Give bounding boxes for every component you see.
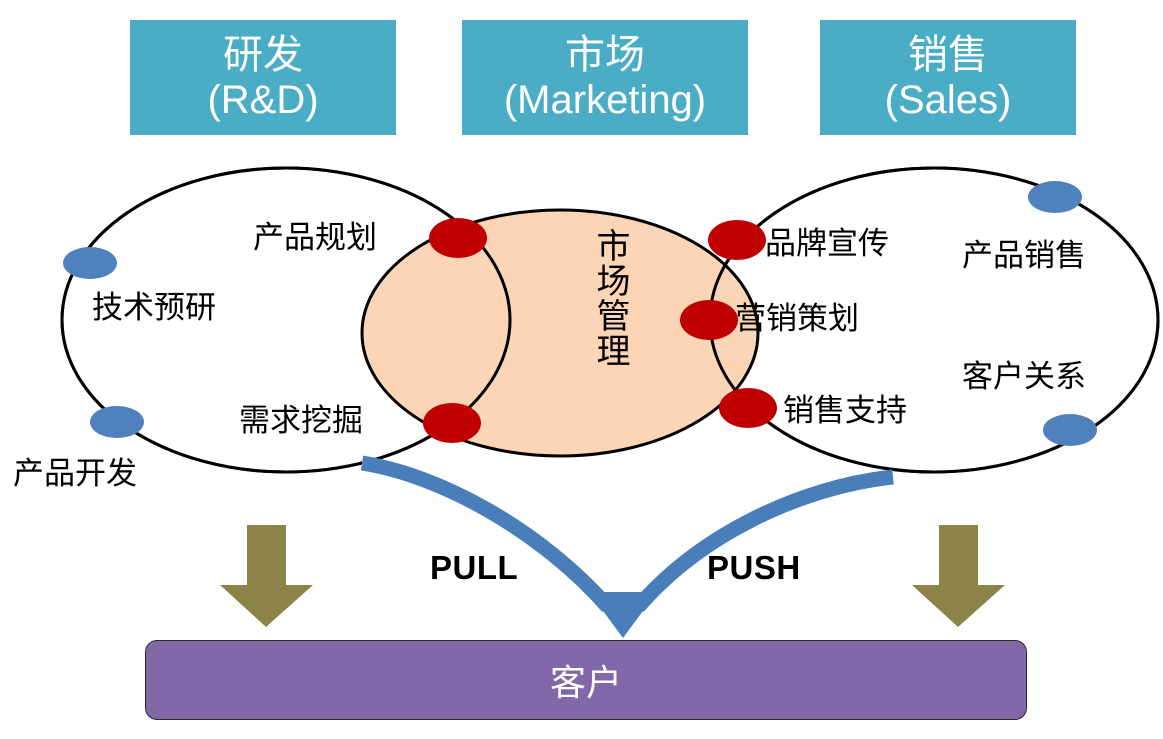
header-sales-en: (Sales) — [885, 78, 1012, 123]
header-box-sales[interactable]: 销售 (Sales) — [820, 20, 1076, 135]
edge-dot-sales-top-right — [1028, 181, 1082, 213]
push-arrow — [638, 477, 893, 607]
customer-box[interactable]: 客户 — [145, 640, 1027, 720]
label-product-sales: 产品销售 — [962, 240, 1086, 271]
label-marketing-planning: 营销策划 — [735, 303, 859, 334]
label-product-planning: 产品规划 — [253, 222, 377, 253]
diagram-canvas: 研发 (R&D) 市场 (Marketing) 销售 (Sales) 产品规划 … — [0, 0, 1163, 739]
flow-label-push: PUSH — [707, 549, 801, 587]
down-arrow-left — [220, 525, 313, 627]
flow-label-pull: PULL — [430, 549, 518, 587]
edge-dot-rd-bottom-left — [90, 406, 144, 438]
edge-dot-rd-top-left — [63, 247, 117, 279]
header-marketing-en: (Marketing) — [504, 78, 706, 123]
overlap-dot-sales-support — [719, 388, 777, 428]
label-product-development: 产品开发 — [13, 458, 137, 489]
label-tech-preresearch: 技术预研 — [92, 292, 216, 323]
label-demand-mining: 需求挖掘 — [239, 405, 363, 436]
header-rd-en: (R&D) — [207, 78, 318, 123]
label-customer-relations: 客户关系 — [962, 361, 1086, 392]
overlap-dot-product-planning — [429, 218, 487, 258]
header-marketing-cn: 市场 — [565, 33, 645, 78]
header-box-marketing[interactable]: 市场 (Marketing) — [462, 20, 748, 135]
customer-label: 客户 — [550, 654, 622, 706]
label-brand-promotion: 品牌宣传 — [765, 228, 889, 259]
flow-arrowhead — [589, 592, 657, 638]
overlap-dot-brand-promotion — [708, 220, 766, 260]
label-sales-support: 销售支持 — [783, 395, 907, 426]
overlap-dot-marketing-planning — [680, 300, 738, 340]
overlap-dot-demand-mining — [423, 403, 481, 443]
label-market-management: 市场管理 — [592, 228, 628, 368]
down-arrow-right — [912, 525, 1005, 627]
edge-dot-sales-bottom-right — [1043, 414, 1097, 446]
header-box-rd[interactable]: 研发 (R&D) — [130, 20, 396, 135]
header-rd-cn: 研发 — [223, 33, 303, 78]
header-sales-cn: 销售 — [908, 33, 988, 78]
